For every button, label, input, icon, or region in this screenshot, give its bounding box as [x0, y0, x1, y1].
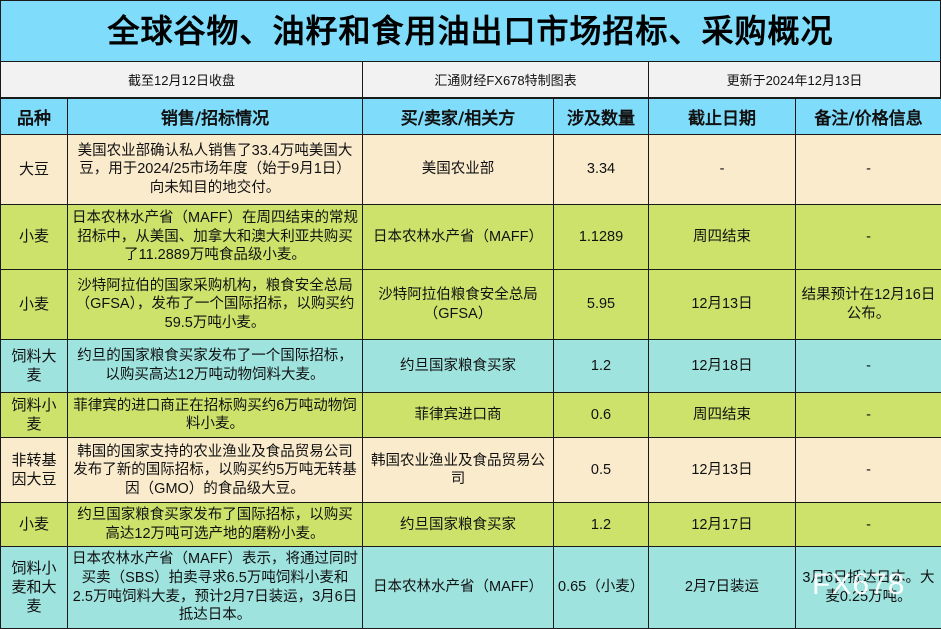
cell-description: 菲律宾的进口商正在招标购买约6万吨动物饲料小麦。 [68, 393, 363, 438]
cell-quantity: 0.65（小麦） [554, 547, 649, 628]
cell-due-date: 12月13日 [649, 270, 796, 340]
table-header-row: 品种 销售/招标情况 买/卖家/相关方 涉及数量 截止日期 备注/价格信息 [1, 99, 941, 135]
cell-description: 约旦的国家粮食买家发布了一个国际招标，以购买高达12万吨动物饲料大麦。 [68, 340, 363, 393]
cell-note: 3月6日抵达日本。大麦0.25万吨。 [796, 547, 941, 628]
cell-quantity: 3.34 [554, 135, 649, 205]
cell-kind: 饲料小麦和大麦 [1, 547, 68, 628]
title-bar: 全球谷物、油籽和食用油出口市场招标、采购概况 [0, 0, 941, 62]
column-header-kind: 品种 [1, 99, 68, 135]
column-header-quantity: 涉及数量 [554, 99, 649, 135]
table-row: 小麦日本农林水产省（MAFF）在周四结束的常规招标中，从美国、加拿大和澳大利亚共… [1, 205, 941, 270]
column-header-party: 买/卖家/相关方 [363, 99, 554, 135]
table-row: 大豆美国农业部确认私人销售了33.4万吨美国大豆，用于2024/25市场年度（始… [1, 135, 941, 205]
cell-due-date: 2月7日装运 [649, 547, 796, 628]
cell-due-date: 周四结束 [649, 393, 796, 438]
cell-due-date: 12月13日 [649, 438, 796, 503]
column-header-note: 备注/价格信息 [796, 99, 941, 135]
meta-row: 截至12月12日收盘 汇通财经FX678特制图表 更新于2024年12月13日 [0, 62, 941, 98]
cell-party: 菲律宾进口商 [363, 393, 554, 438]
cell-description: 日本农林水产省（MAFF）表示，将通过同时买卖（SBS）拍卖寻求6.5万吨饲料小… [68, 547, 363, 628]
table-row: 饲料小麦和大麦日本农林水产省（MAFF）表示，将通过同时买卖（SBS）拍卖寻求6… [1, 547, 941, 628]
table-row: 非转基因大豆韩国的国家支持的农业渔业及食品贸易公司发布了新的国际招标，以购买约5… [1, 438, 941, 503]
cell-kind: 饲料小麦 [1, 393, 68, 438]
meta-updated-date: 更新于2024年12月13日 [649, 62, 940, 97]
cell-description: 日本农林水产省（MAFF）在周四结束的常规招标中，从美国、加拿大和澳大利亚共购买… [68, 205, 363, 270]
spreadsheet-container: 全球谷物、油籽和食用油出口市场招标、采购概况 截至12月12日收盘 汇通财经FX… [0, 0, 941, 624]
cell-party: 美国农业部 [363, 135, 554, 205]
cell-party: 日本农林水产省（MAFF） [363, 547, 554, 628]
cell-party: 日本农林水产省（MAFF） [363, 205, 554, 270]
cell-description: 沙特阿拉伯的国家采购机构，粮食安全总局（GFSA），发布了一个国际招标，以购买约… [68, 270, 363, 340]
cell-note: - [796, 205, 941, 270]
cell-description: 韩国的国家支持的农业渔业及食品贸易公司发布了新的国际招标，以购买约5万吨无转基因… [68, 438, 363, 503]
cell-quantity: 1.2 [554, 503, 649, 547]
cell-kind: 小麦 [1, 503, 68, 547]
cell-party: 约旦国家粮食买家 [363, 340, 554, 393]
cell-note: 结果预计在12月16日公布。 [796, 270, 941, 340]
cell-kind: 大豆 [1, 135, 68, 205]
meta-as-of-date: 截至12月12日收盘 [1, 62, 363, 97]
table-row: 小麦约旦国家粮食买家发布了国际招标，以购买高达12万吨可选产地的磨粉小麦。约旦国… [1, 503, 941, 547]
cell-kind: 小麦 [1, 205, 68, 270]
cell-due-date: 12月17日 [649, 503, 796, 547]
page-title: 全球谷物、油籽和食用油出口市场招标、采购概况 [107, 15, 833, 47]
cell-party: 沙特阿拉伯粮食安全总局（GFSA） [363, 270, 554, 340]
cell-quantity: 1.1289 [554, 205, 649, 270]
cell-kind: 小麦 [1, 270, 68, 340]
table-body: 大豆美国农业部确认私人销售了33.4万吨美国大豆，用于2024/25市场年度（始… [1, 135, 941, 629]
cell-quantity: 1.2 [554, 340, 649, 393]
cell-kind: 饲料大麦 [1, 340, 68, 393]
cell-note: - [796, 340, 941, 393]
cell-note: - [796, 503, 941, 547]
table-row: 小麦沙特阿拉伯的国家采购机构，粮食安全总局（GFSA），发布了一个国际招标，以购… [1, 270, 941, 340]
cell-note: - [796, 135, 941, 205]
cell-party: 韩国农业渔业及食品贸易公司 [363, 438, 554, 503]
cell-quantity: 0.5 [554, 438, 649, 503]
cell-description: 约旦国家粮食买家发布了国际招标，以购买高达12万吨可选产地的磨粉小麦。 [68, 503, 363, 547]
column-header-due-date: 截止日期 [649, 99, 796, 135]
tender-table: 品种 销售/招标情况 买/卖家/相关方 涉及数量 截止日期 备注/价格信息 大豆… [0, 98, 941, 629]
table-header: 品种 销售/招标情况 买/卖家/相关方 涉及数量 截止日期 备注/价格信息 [1, 99, 941, 135]
cell-note: - [796, 438, 941, 503]
cell-kind: 非转基因大豆 [1, 438, 68, 503]
table-row: 饲料小麦菲律宾的进口商正在招标购买约6万吨动物饲料小麦。菲律宾进口商0.6周四结… [1, 393, 941, 438]
column-header-desc: 销售/招标情况 [68, 99, 363, 135]
cell-party: 约旦国家粮食买家 [363, 503, 554, 547]
meta-source-credit: 汇通财经FX678特制图表 [363, 62, 649, 97]
cell-description: 美国农业部确认私人销售了33.4万吨美国大豆，用于2024/25市场年度（始于9… [68, 135, 363, 205]
cell-due-date: 12月18日 [649, 340, 796, 393]
cell-due-date: 周四结束 [649, 205, 796, 270]
cell-quantity: 0.6 [554, 393, 649, 438]
cell-note: - [796, 393, 941, 438]
cell-due-date: - [649, 135, 796, 205]
table-row: 饲料大麦约旦的国家粮食买家发布了一个国际招标，以购买高达12万吨动物饲料大麦。约… [1, 340, 941, 393]
cell-quantity: 5.95 [554, 270, 649, 340]
